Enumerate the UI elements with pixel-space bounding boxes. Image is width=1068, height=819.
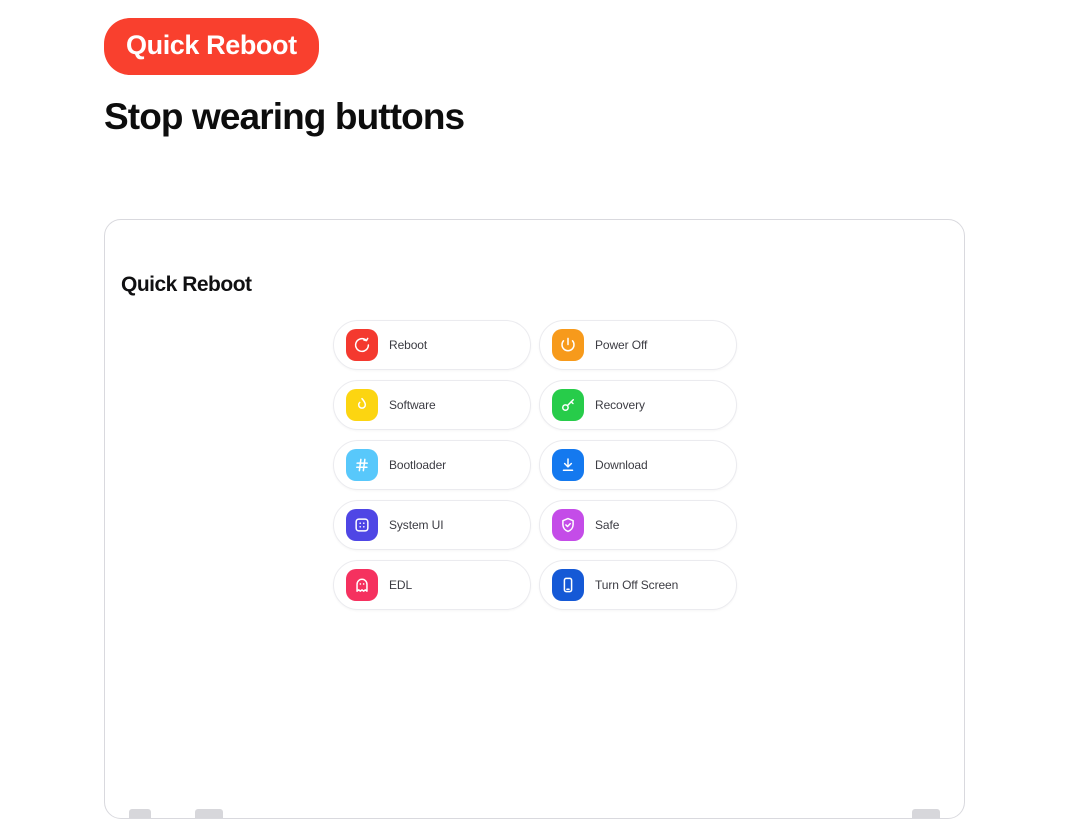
power-restart-icon xyxy=(346,329,378,361)
bottom-nav-item-3[interactable] xyxy=(912,809,940,819)
quick-reboot-tile-label: EDL xyxy=(389,578,412,592)
page-header: Quick Reboot Stop wearing buttons xyxy=(0,0,1068,138)
phone-icon xyxy=(552,569,584,601)
bottom-nav-item-1[interactable] xyxy=(129,809,151,819)
quick-reboot-tile-label: Recovery xyxy=(595,398,645,412)
quick-reboot-tile-power-off[interactable]: Power Off xyxy=(539,320,737,370)
quick-reboot-tile-reboot[interactable]: Reboot xyxy=(333,320,531,370)
flame-icon xyxy=(346,389,378,421)
quick-reboot-tile-software[interactable]: Software xyxy=(333,380,531,430)
app-preview-card: Quick Reboot RebootPower OffSoftwareReco… xyxy=(104,219,965,819)
quick-reboot-tile-label: Software xyxy=(389,398,436,412)
quick-reboot-tile-label: Download xyxy=(595,458,648,472)
quick-reboot-tile-turn-off-screen[interactable]: Turn Off Screen xyxy=(539,560,737,610)
quick-reboot-tile-label: Bootloader xyxy=(389,458,446,472)
quick-reboot-tile-label: Reboot xyxy=(389,338,427,352)
page-title: Stop wearing buttons xyxy=(104,97,1068,138)
quick-reboot-tile-system-ui[interactable]: System UI xyxy=(333,500,531,550)
quick-reboot-tile-label: Power Off xyxy=(595,338,647,352)
quick-reboot-grid: RebootPower OffSoftwareRecoveryBootloade… xyxy=(333,320,737,610)
quick-reboot-tile-label: System UI xyxy=(389,518,443,532)
quick-reboot-tile-bootloader[interactable]: Bootloader xyxy=(333,440,531,490)
quick-reboot-tile-label: Turn Off Screen xyxy=(595,578,678,592)
power-icon xyxy=(552,329,584,361)
quick-reboot-tile-label: Safe xyxy=(595,518,619,532)
quick-reboot-badge: Quick Reboot xyxy=(104,18,319,75)
wrench-icon xyxy=(552,389,584,421)
bottom-nav-item-2[interactable] xyxy=(195,809,223,819)
app-card-title: Quick Reboot xyxy=(121,273,252,297)
grid-square-icon xyxy=(346,509,378,541)
shield-check-icon xyxy=(552,509,584,541)
bottom-nav-cutoff xyxy=(105,802,964,819)
ghost-icon xyxy=(346,569,378,601)
quick-reboot-tile-edl[interactable]: EDL xyxy=(333,560,531,610)
quick-reboot-tile-recovery[interactable]: Recovery xyxy=(539,380,737,430)
hash-icon xyxy=(346,449,378,481)
download-icon xyxy=(552,449,584,481)
quick-reboot-tile-safe[interactable]: Safe xyxy=(539,500,737,550)
quick-reboot-tile-download[interactable]: Download xyxy=(539,440,737,490)
